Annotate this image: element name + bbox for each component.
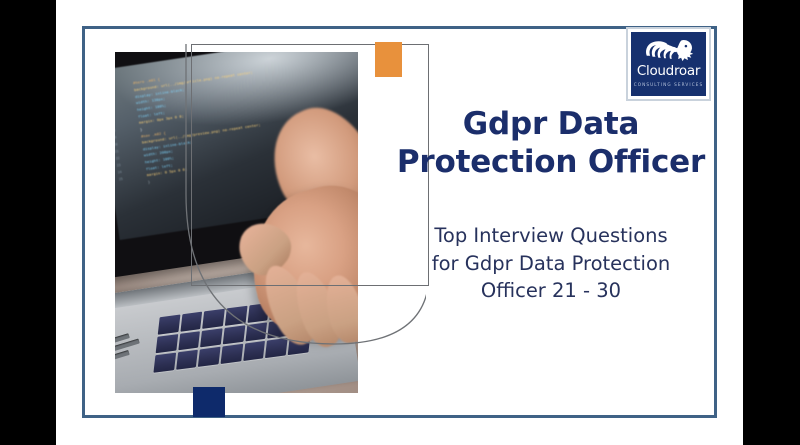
gutter-line: 18 [115,125,137,133]
port [115,350,130,361]
gutter-line: 25 [119,173,145,181]
subtitle-line-1: Top Interview Questions [392,222,710,250]
slide-canvas: 12 13 14 15 16 17 18 19 20 21 22 23 [56,0,743,445]
title-line-1: Gdpr Data [386,106,716,144]
gutter-line: 15 [115,104,134,112]
gutter-line: 19 [115,131,138,139]
gutter-line: 16 [115,111,135,119]
logo-plate: Cloudroar CONSULTING SERVICES [631,32,706,96]
cloudroar-logo: Cloudroar CONSULTING SERVICES [626,27,711,101]
screenshot-stage: 12 13 14 15 16 17 18 19 20 21 22 23 [0,0,800,445]
page-title: Gdpr Data Protection Officer [386,106,716,182]
key [153,353,175,373]
gutter-line: 24 [118,166,144,174]
gutter-line: 13 [115,90,132,98]
logo-wordmark: Cloudroar [637,65,700,79]
gutter-line: 12 [115,83,131,91]
gutter-line: 21 [115,145,140,153]
title-line-2: Protection Officer [386,144,716,182]
blue-accent-square [193,387,225,417]
gutter-line: 17 [115,118,136,126]
gutter-line: 14 [115,97,133,105]
letterbox-left [0,0,56,445]
subtitle-line-2: for Gdpr Data Protection [392,250,710,278]
lion-roar-icon [640,36,698,64]
gutter-line: 20 [115,138,139,146]
gutter-line: 23 [117,159,143,167]
page-subtitle: Top Interview Questions for Gdpr Data Pr… [392,222,710,305]
letterbox-right [743,0,800,445]
gutter-line: 22 [115,152,141,160]
subtitle-line-3: Officer 21 - 30 [392,277,710,305]
logo-tagline: CONSULTING SERVICES [634,82,704,87]
